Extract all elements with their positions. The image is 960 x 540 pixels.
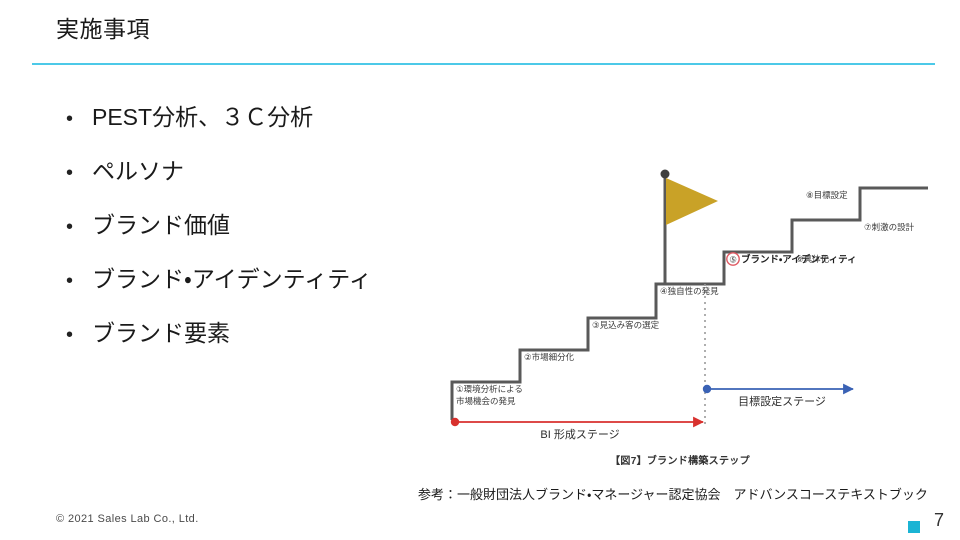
source-note: 参考：一般財団法人ブランド・マネージャー認定協会 アドバンスコーステキストブック [418,484,928,503]
flag-pole-knob-icon [661,170,670,179]
stage-arrow-bi-formation: BI 形成ステージ [451,418,703,441]
step-label-6: ⑥具体化 [796,254,830,264]
bullet-marker-icon: • [66,200,92,254]
staircase-path [452,188,928,420]
stage-label-goal-setting: 目標設定ステージ [738,394,826,408]
step-label-4: ④独自性の発見 [660,286,719,296]
slide: 実施事項 • PEST分析、３Ｃ分析 • ペルソナ • ブランド価値 • ブラン… [0,0,960,540]
page-title: 実施事項 [56,12,150,46]
stage-arrow-goal-setting: 目標設定ステージ [703,385,853,408]
brand-steps-figure: ①環境分析による 市場機会の発見 ②市場細分化 ③見込み客の選定 ④独自性の発見… [430,160,930,480]
step-label-1a: ①環境分析による [456,384,523,394]
page-marker-icon [908,521,920,533]
list-item: • PEST分析、３Ｃ分析 [66,90,496,144]
bullet-marker-icon: • [66,146,92,200]
title-divider [32,63,935,65]
bullet-text: PEST分析、３Ｃ分析 [92,90,313,144]
step-label-7: ⑦刺激の設計 [864,222,915,232]
step-label-5-num: ⑤ [729,255,737,265]
bullet-marker-icon: • [66,308,92,362]
bullet-text: ブランド・アイデンティティ [92,252,372,306]
step-label-1b: 市場機会の発見 [456,396,516,406]
step-label-8: ⑧目標設定 [806,190,848,200]
figure-caption: 【図7】ブランド構築ステップ [430,452,930,467]
step-label-3: ③見込み客の選定 [592,320,660,330]
bullet-marker-icon: • [66,254,92,308]
copyright-text: © 2021 Sales Lab Co., Ltd. [56,513,199,525]
bullet-text: ブランド価値 [92,198,230,252]
stage-label-bi-formation: BI 形成ステージ [540,428,619,441]
bullet-text: ペルソナ [92,144,184,198]
step-label-2: ②市場細分化 [524,352,575,362]
bullet-text: ブランド要素 [92,306,230,360]
flag-icon [666,178,718,225]
page-number: 7 [934,510,944,531]
bullet-marker-icon: • [66,92,92,146]
